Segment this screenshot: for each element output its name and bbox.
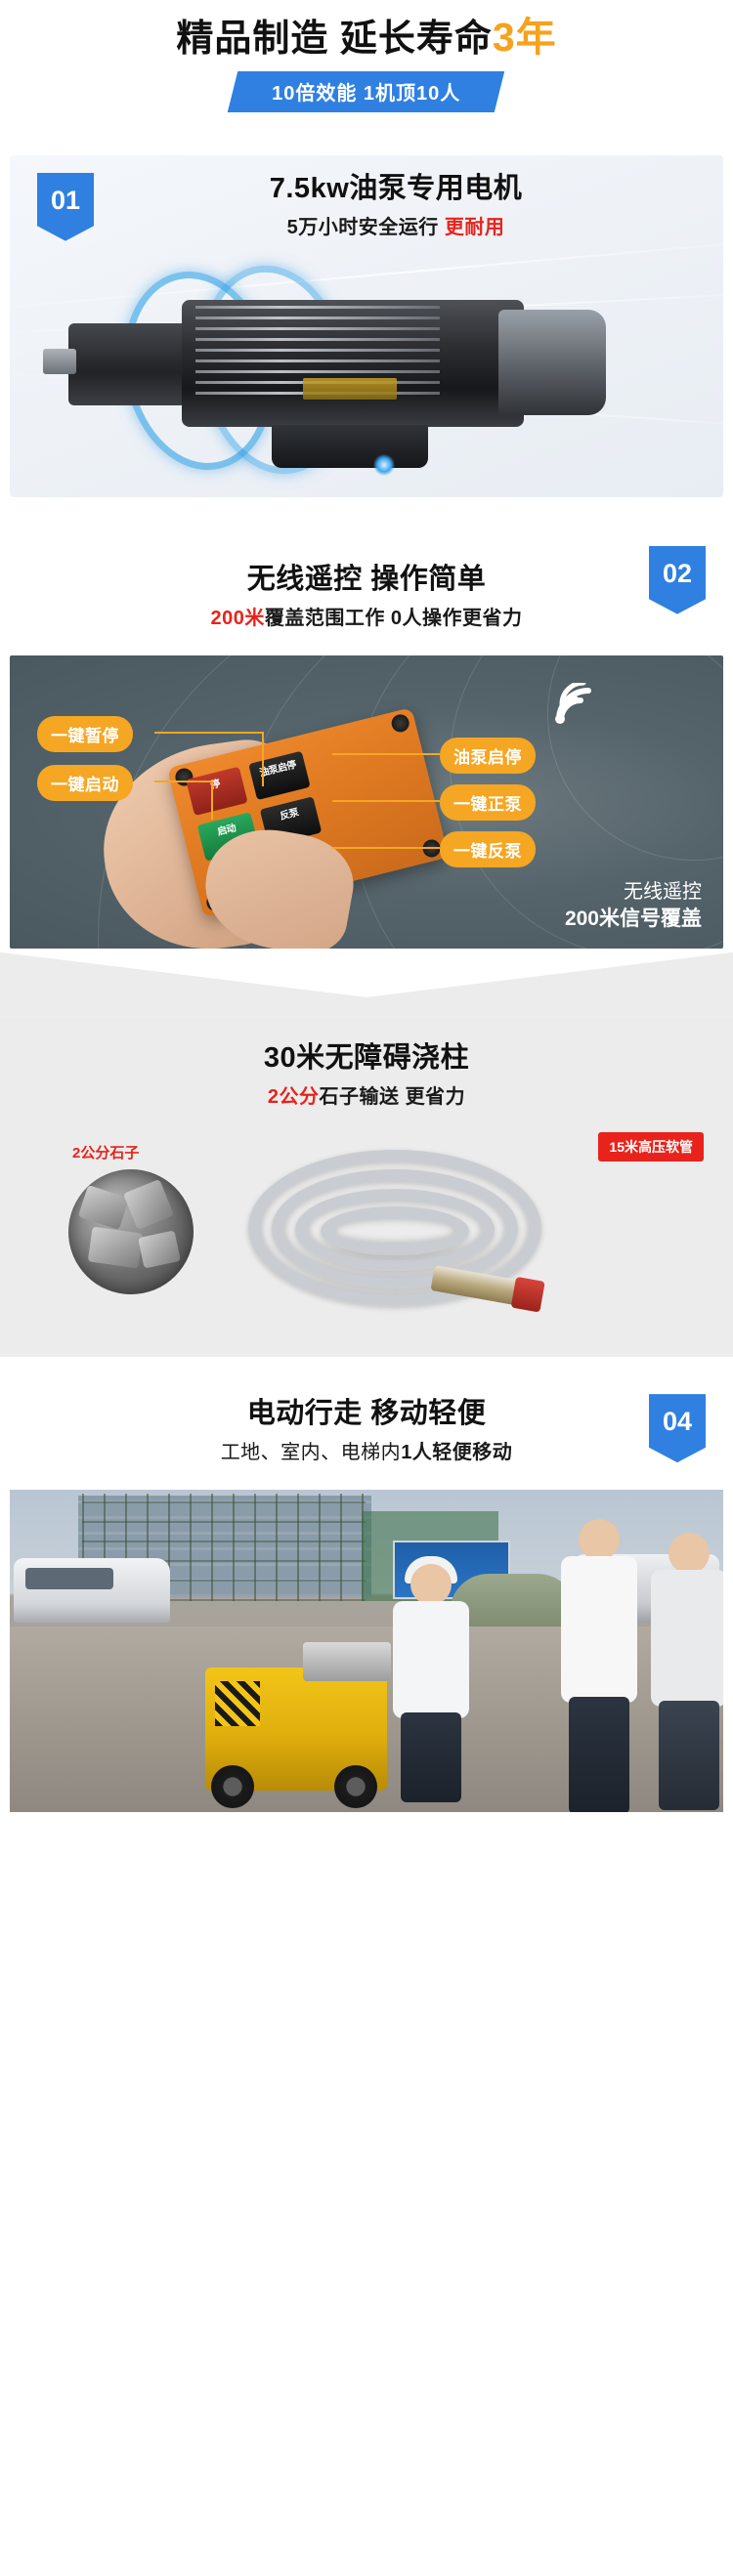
- section-01-subtitle: 5万小时安全运行 更耐用: [68, 211, 723, 239]
- worker-head: [668, 1533, 710, 1574]
- machine-hopper: [303, 1642, 391, 1681]
- motor-nameplate: [303, 378, 397, 400]
- highlight-glow: [373, 454, 395, 476]
- section-02-subtitle: 200米覆盖范围工作 0人操作更省力: [0, 602, 733, 630]
- callout-line: [332, 753, 440, 755]
- motor-cooling-fins: [195, 306, 440, 421]
- motor-shaft: [43, 349, 76, 374]
- section-02-sub-red: 200米: [210, 608, 264, 629]
- section-01-sub-red: 更耐用: [445, 217, 505, 238]
- hazard-stripe: [215, 1681, 260, 1726]
- worker-head: [579, 1519, 620, 1560]
- worker-legs: [659, 1701, 719, 1810]
- stone-size-label: 2公分石子: [72, 1142, 139, 1162]
- callout-reverse-pump: 一键反泵: [440, 831, 536, 867]
- section-02-remote: 02 无线遥控 操作简单 200米覆盖范围工作 0人操作更省力: [0, 538, 733, 949]
- callout-pump-toggle: 油泵启停: [440, 738, 536, 774]
- section-03-hose: 03 30米无障碍浇柱 2公分石子输送 更省力 2公分石子 15米高压软管: [0, 952, 733, 1357]
- parked-van-left: [14, 1558, 170, 1623]
- screw-icon: [390, 712, 411, 734]
- hose-length-tag: 15米高压软管: [598, 1132, 704, 1161]
- motor-base-mount: [272, 425, 428, 468]
- section-04-sub-bold: 1人轻便移动: [401, 1442, 512, 1463]
- callout-line: [332, 847, 440, 849]
- hero-header: 精品制造 延长寿命3年 10倍效能 1机顶10人: [0, 0, 733, 122]
- callout-start: 一键启动: [37, 765, 133, 801]
- section-04-mobility: 04 电动行走 移动轻便 工地、室内、电梯内1人轻便移动: [0, 1367, 733, 1812]
- section-01-motor: 01 7.5kw油泵专用电机 5万小时安全运行 更耐用: [10, 155, 723, 497]
- worker-torso: [393, 1601, 469, 1718]
- section-04-head: 04 电动行走 移动轻便 工地、室内、电梯内1人轻便移动: [0, 1367, 733, 1478]
- remote-caption-line-1: 无线遥控: [565, 879, 702, 906]
- worker-operator: [385, 1564, 479, 1798]
- section-03-sub-red: 2公分: [268, 1086, 320, 1108]
- section-03-body: 03 30米无障碍浇柱 2公分石子输送 更省力 2公分石子 15米高压软管: [0, 1017, 733, 1357]
- remote-caption-line-2: 200米信号覆盖: [565, 906, 702, 933]
- callout-line: [332, 800, 440, 802]
- section-02-sub-plain: 覆盖范围工作 0人操作更省力: [265, 608, 523, 629]
- callout-line: [211, 781, 213, 820]
- callout-line: [262, 732, 264, 786]
- worker-head: [410, 1564, 452, 1605]
- callout-line: [154, 781, 213, 782]
- section-03-subtitle: 2公分石子输送 更省力: [0, 1080, 733, 1109]
- page-title: 精品制造 延长寿命3年: [0, 14, 733, 63]
- section-01-sub-plain: 5万小时安全运行: [287, 217, 445, 238]
- motor-end-cap: [498, 310, 606, 415]
- worker-bystander: [553, 1519, 647, 1812]
- section-04-subtitle: 工地、室内、电梯内1人轻便移动: [0, 1436, 733, 1464]
- section-04-title: 电动行走 移动轻便: [0, 1396, 733, 1431]
- wifi-signal-icon: [549, 683, 602, 726]
- worker-torso: [651, 1570, 723, 1707]
- hero-band: 10倍效能 1机顶10人: [228, 71, 505, 112]
- section-03-head: 30米无障碍浇柱 2公分石子输送 更省力: [0, 1017, 733, 1122]
- stone-sample-photo: [68, 1169, 194, 1294]
- motor-gearbox: [68, 323, 195, 405]
- section-03-title: 30米无障碍浇柱: [0, 1040, 733, 1076]
- remote-button-pump-toggle[interactable]: 油泵启停: [248, 751, 311, 800]
- remote-control-image: 停 油泵启停 启动 反泵 备用 备用 一: [10, 655, 723, 949]
- section-04-sub-plain: 工地、室内、电梯内: [221, 1442, 402, 1463]
- callout-forward-pump: 一键正泵: [440, 784, 536, 821]
- section-01-head: 7.5kw油泵专用电机 5万小时安全运行 更耐用: [10, 155, 723, 253]
- callout-pause: 一键暂停: [37, 716, 133, 752]
- worker-right: [643, 1533, 723, 1806]
- page-title-main: 精品制造 延长寿命: [176, 19, 493, 60]
- remote-caption: 无线遥控 200米信号覆盖: [565, 879, 702, 933]
- section-02-title: 无线遥控 操作简单: [0, 562, 733, 597]
- worker-torso: [561, 1556, 637, 1703]
- motor-product-image: [10, 263, 723, 497]
- hose-and-stone-image: 2公分石子 15米高压软管: [12, 1126, 721, 1331]
- page-title-accent: 3年: [493, 15, 557, 60]
- section-03-sub-plain: 石子输送 更省力: [320, 1086, 466, 1108]
- van-window: [25, 1568, 113, 1589]
- callout-line: [154, 732, 264, 734]
- section-02-head: 02 无线遥控 操作简单 200米覆盖范围工作 0人操作更省力: [0, 538, 733, 644]
- worker-legs: [401, 1712, 461, 1802]
- remote-button-stop[interactable]: 停: [186, 767, 248, 816]
- hose-coupler-end: [511, 1277, 545, 1313]
- chevron-divider: [0, 952, 733, 1017]
- hero-band-label: 10倍效能 1机顶10人: [273, 77, 461, 106]
- construction-site-photo: [10, 1490, 723, 1812]
- worker-legs: [569, 1697, 629, 1812]
- section-01-title: 7.5kw油泵专用电机: [68, 171, 723, 206]
- hero-band-wrapper: 10倍效能 1机顶10人: [0, 71, 733, 112]
- product-detail-page: 精品制造 延长寿命3年 10倍效能 1机顶10人 01 7.5kw油泵专用电机 …: [0, 0, 733, 1812]
